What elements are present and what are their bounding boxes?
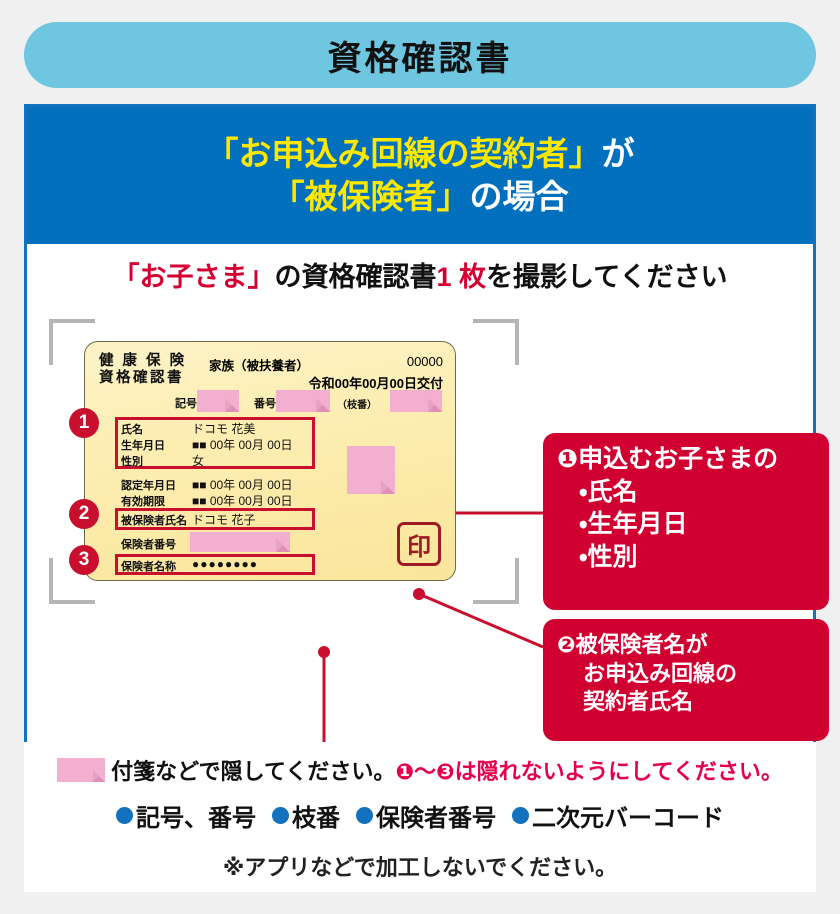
mask-legend-red-text: ❶～❸は隠れないようにしてください。 <box>395 754 783 786</box>
sticky-mask-kigou <box>197 390 239 412</box>
instruction-count: 1 枚 <box>437 262 487 292</box>
viewfinder-corner-top-right <box>473 319 519 365</box>
card-value-sex: 女 <box>192 452 204 469</box>
mask-target-item-4: 二次元バーコード <box>512 798 724 833</box>
sticky-swatch-icon <box>57 758 105 782</box>
callout-1-badge: ❶ <box>557 445 578 473</box>
official-seal-stamp: 印 <box>397 522 441 566</box>
callout-2-badge: ❷ <box>557 632 576 657</box>
page-title: 資格確認書 <box>328 31 513 80</box>
mask-target-label-4: 二次元バーコード <box>532 798 724 833</box>
card-value-birthdate: ■■ 00年 00月 00日 <box>192 436 293 453</box>
bullet-dot-icon <box>116 807 133 824</box>
mask-target-label-2: 枝番 <box>292 798 340 833</box>
photo-instruction: 「お子さま」の資格確認書1 枚を撮影してください <box>27 255 813 294</box>
callout-1-item-3: ・性別 <box>557 541 829 574</box>
callout-2-title: 被保険者名が <box>576 632 708 657</box>
card-label-edaban: （枝番） <box>337 396 377 411</box>
mask-target-item-1: 記号、番号 <box>116 798 256 833</box>
case-banner: 「お申込み回線の契約者」が 「被保険者」の場合 <box>27 107 813 244</box>
callout-1-item-2: ・生年月日 <box>557 508 829 541</box>
card-title-line-2: 資格確認書 <box>99 370 184 386</box>
no-editing-note: ※アプリなどで加工しないでください。 <box>24 850 816 882</box>
card-badge-2: 2 <box>69 499 99 529</box>
mask-target-label-1: 記号、番号 <box>136 798 256 833</box>
instruction-doc: の資格確認書 <box>275 262 437 292</box>
card-value-insurer-address: 東京都■■区 ■■×－× <box>192 578 285 581</box>
card-category: 家族（被扶養者） <box>209 355 309 374</box>
card-label-expiry: 有効期限 <box>121 493 165 509</box>
callout-box-1: ❶申込むお子さまの ・氏名 ・生年月日 ・性別 <box>543 433 829 610</box>
callout-1-title: 申込むお子さまの <box>578 445 778 473</box>
card-badge-1: 1 <box>69 408 99 438</box>
card-value-insured-name: ドコモ 花子 <box>192 511 255 528</box>
card-label-sex: 性別 <box>121 453 143 469</box>
card-label-kigou: 記号 <box>175 395 197 411</box>
card-value-expiry: ■■ 00年 00月 00日 <box>192 492 293 509</box>
card-label-certification-date: 認定年月日 <box>121 477 176 493</box>
mask-legend-black-text: 付箋などで隠してください。 <box>111 754 395 786</box>
banner-line-2-tail: の場合 <box>470 178 569 215</box>
insurance-card-sample: 健 康 保 険 資格確認書 家族（被扶養者） 00000 令和00年00月00日… <box>84 341 456 581</box>
banner-line-1-tail: が <box>602 135 635 172</box>
callout-2-item-1: お申込み回線の <box>557 660 829 689</box>
bullet-dot-icon <box>272 807 289 824</box>
card-label-insurer-name: 保険者名称 <box>121 558 176 574</box>
mask-legend-row: 付箋などで隠してください。 ❶～❸は隠れないようにしてください。 <box>24 754 816 786</box>
mask-target-list: 記号、番号 枝番 保険者番号 二次元バーコード <box>24 798 816 833</box>
footer-legend-panel: 付箋などで隠してください。 ❶～❸は隠れないようにしてください。 記号、番号 枝… <box>24 742 816 892</box>
main-panel: 「お申込み回線の契約者」が 「被保険者」の場合 「お子さま」の資格確認書1 枚を… <box>24 104 816 780</box>
callout-2-item-2: 契約者氏名 <box>557 688 829 717</box>
viewfinder-corner-bottom-right <box>473 558 519 604</box>
card-label-insurer-address: 保険者所在地 <box>121 578 187 581</box>
sticky-mask-bangou <box>276 390 330 412</box>
mask-target-label-3: 保険者番号 <box>376 798 496 833</box>
callout-1-heading: ❶申込むお子さまの <box>557 443 829 476</box>
mask-target-item-2: 枝番 <box>272 798 340 833</box>
banner-line-2-quoted: 「被保険者」 <box>272 178 470 215</box>
card-label-name: 氏名 <box>121 421 143 437</box>
card-label-insured-name: 被保険者氏名 <box>121 512 187 528</box>
card-serial-number: 00000 <box>407 354 443 369</box>
instruction-subject: 「お子さま」 <box>113 262 275 292</box>
bullet-dot-icon <box>356 807 373 824</box>
callout-box-2: ❷被保険者名が お申込み回線の 契約者氏名 <box>543 619 829 741</box>
card-label-birthdate: 生年月日 <box>121 437 165 453</box>
sticky-mask-insurer-number <box>190 532 290 552</box>
banner-line-1-quoted: 「お申込み回線の契約者」 <box>206 135 602 172</box>
callout-2-heading: ❷被保険者名が <box>557 631 829 660</box>
bullet-dot-icon <box>512 807 529 824</box>
banner-line-2: 「被保険者」の場合 <box>272 177 569 217</box>
card-label-insurer-number: 保険者番号 <box>121 536 176 552</box>
instruction-action: を撮影してください <box>486 262 727 292</box>
sticky-mask-qr-code <box>347 446 395 494</box>
card-badge-3: 3 <box>69 545 99 575</box>
card-value-insurer-name: ●●●●●●●● <box>192 557 258 571</box>
card-title-line-1: 健 康 保 険 <box>99 353 187 369</box>
mask-target-item-3: 保険者番号 <box>356 798 496 833</box>
card-value-certification-date: ■■ 00年 00月 00日 <box>192 476 293 493</box>
card-label-bangou: 番号 <box>254 395 276 411</box>
card-viewfinder: 健 康 保 険 資格確認書 家族（被扶養者） 00000 令和00年00月00日… <box>49 319 519 604</box>
banner-line-1: 「お申込み回線の契約者」が <box>206 134 635 174</box>
page-title-pill: 資格確認書 <box>24 22 816 88</box>
sticky-mask-edaban <box>390 390 442 412</box>
card-value-name: ドコモ 花美 <box>192 420 255 437</box>
callout-1-item-1: ・氏名 <box>557 476 829 509</box>
